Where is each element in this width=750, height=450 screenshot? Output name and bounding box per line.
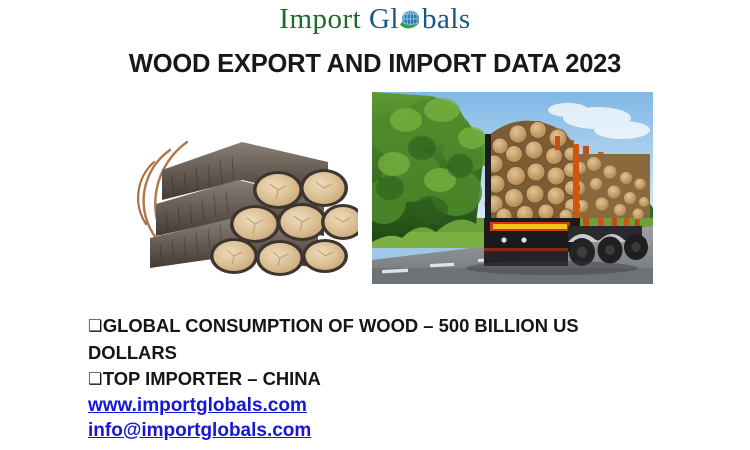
list-item: ❑GLOBAL CONSUMPTION OF WOOD – 500 BILLIO… [88,313,668,366]
list-item: ❑TOP IMPORTER – CHINA [88,366,668,393]
brand-name-gl: Gl [369,3,399,35]
square-bullet-icon: ❑ [88,313,102,340]
list-item-label: TOP IMPORTER – CHINA [103,368,321,389]
email-link[interactable]: info@importglobals.com [88,419,311,444]
logging-truck-photo [372,92,653,284]
globe-icon [399,5,422,28]
square-bullet-icon: ❑ [88,366,102,393]
brand-name-import: Import [279,3,361,35]
list-item-label: GLOBAL CONSUMPTION OF WOOD – 500 BILLION… [88,315,579,363]
brand-name-bals: bals [422,3,471,35]
website-link[interactable]: www.importglobals.com [88,394,307,419]
page-title: WOOD EXPORT AND IMPORT DATA 2023 [0,50,750,79]
contact-links: www.importglobals.com info@importglobals… [88,394,668,443]
key-facts-list: ❑GLOBAL CONSUMPTION OF WOOD – 500 BILLIO… [88,313,668,393]
stacked-wood-logs-illustration [92,96,358,276]
brand-logo[interactable]: Import Gl [0,2,750,40]
brand-logo-text: Import Gl [279,2,470,36]
